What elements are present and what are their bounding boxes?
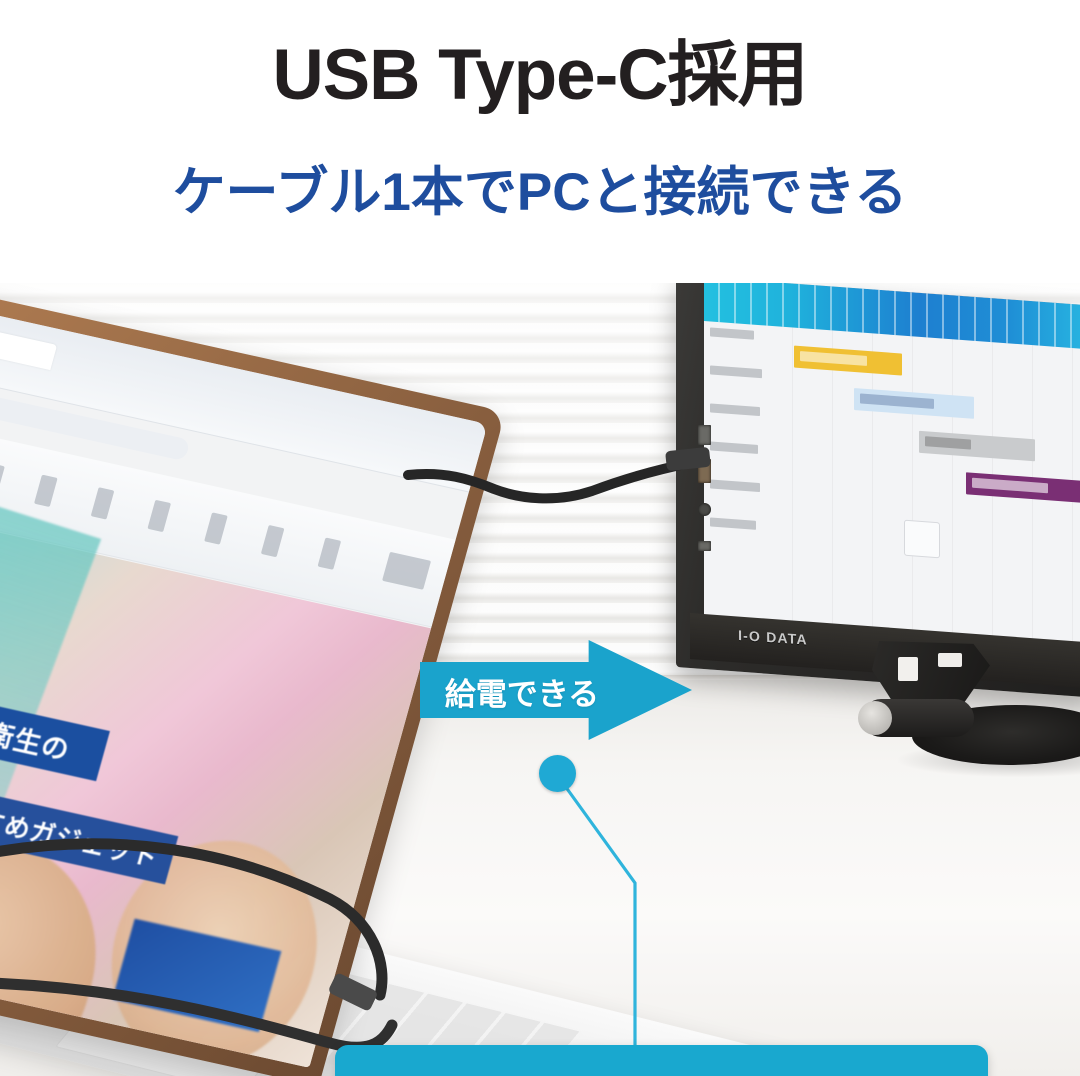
gantt-row-labels [710, 291, 788, 597]
toolbar-icon [91, 487, 115, 519]
gantt-row-label [710, 479, 760, 492]
arrow-label: 給電できる [442, 669, 602, 714]
gantt-row-label [710, 365, 762, 378]
monitor-screen [704, 283, 1080, 654]
gantt-row-label [710, 517, 756, 529]
toolbar-icon [0, 463, 5, 495]
toolbar-icon [147, 500, 171, 532]
gantt-row-label [710, 327, 754, 339]
gantt-marker [904, 520, 940, 559]
header-section: USB Type-C採用 ケーブル1本でPCと接続できる [0, 0, 1080, 283]
product-photo: I-O DATA [0, 283, 1080, 1076]
toolbar-icon [382, 552, 431, 590]
cable-callout-box: 取り回ししやすい！柔らかい USB Type-Cケーブル標準添付 [335, 1045, 988, 1076]
gantt-bar-text [972, 478, 1048, 494]
callout-anchor-dot [539, 755, 576, 792]
toolbar-icon [318, 537, 342, 569]
io-data-monitor: I-O DATA [676, 283, 1080, 695]
stand-cutout [938, 653, 962, 667]
usb-c-port [698, 425, 711, 445]
stand-hinge-cap [858, 701, 892, 735]
monitor-port-cluster [696, 425, 714, 595]
toolbar-icon [34, 475, 58, 507]
toolbar-icon [261, 525, 285, 557]
usb-a-port [698, 459, 711, 483]
page-subtitle: ケーブル1本でPCと接続できる [0, 166, 1080, 219]
gantt-bar-text [925, 436, 971, 449]
toolbar-icon [204, 512, 228, 544]
stand-cutout [898, 657, 918, 681]
gantt-row-label [710, 403, 760, 416]
audio-jack-port [698, 503, 711, 516]
power-delivery-arrow: 給電できる [420, 640, 692, 740]
gantt-row-label [710, 441, 758, 454]
laptop-screen: 衛生の おすすめガジェット [0, 291, 488, 1067]
gantt-bar-text [860, 393, 934, 408]
gantt-bar-text [800, 351, 867, 366]
page-title: USB Type-C採用 [0, 40, 1080, 111]
power-button [698, 541, 711, 551]
